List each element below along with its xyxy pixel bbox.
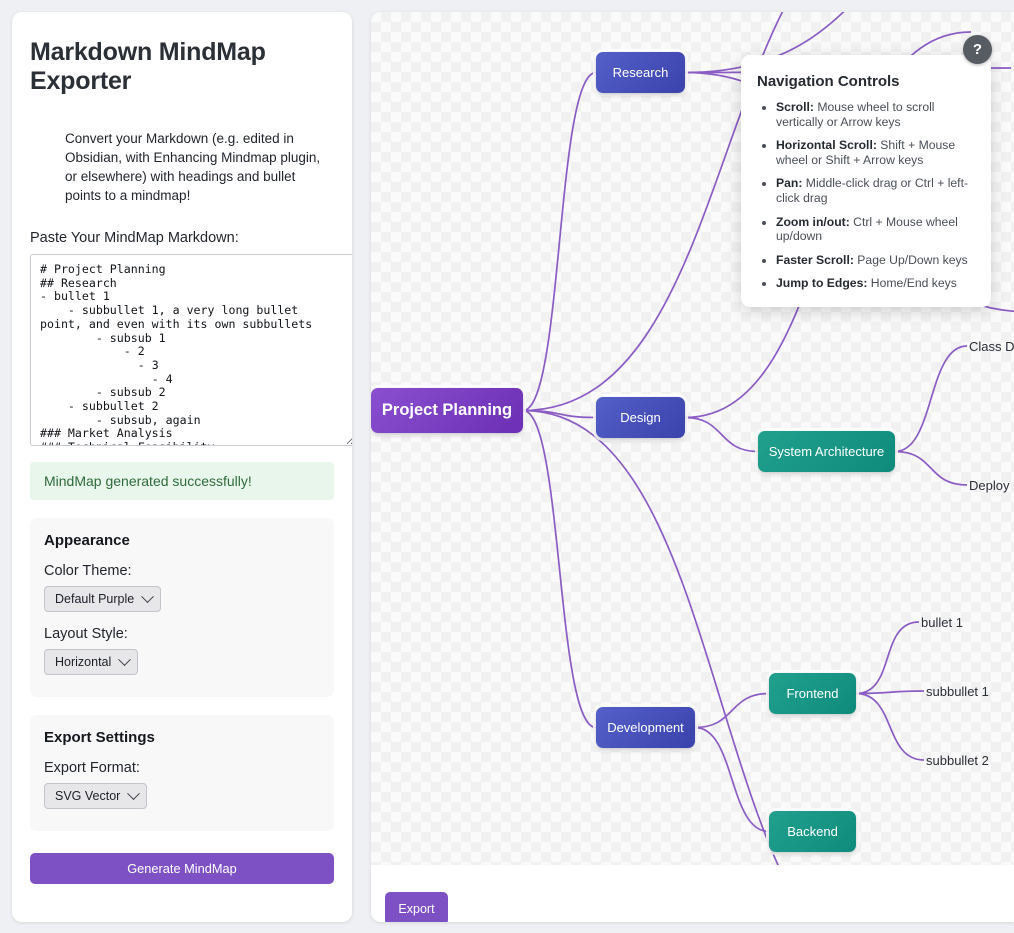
mindmap-node[interactable]: Design: [596, 397, 685, 438]
mindmap-node[interactable]: Backend: [769, 811, 856, 852]
app-root: Markdown MindMap Exporter Convert your M…: [0, 0, 1014, 933]
mindmap-card: Project PlanningResearchDesignDevelopmen…: [371, 12, 1014, 922]
mindmap-edge: [523, 411, 596, 728]
mindmap-leaf-label: subbullet 1: [926, 684, 989, 699]
tooltip-title: Navigation Controls: [757, 73, 975, 90]
color-theme-select[interactable]: Default Purple: [44, 586, 161, 612]
tooltip-item: Horizontal Scroll: Shift + Mouse wheel o…: [776, 138, 975, 167]
sidebar-panel: Markdown MindMap Exporter Convert your M…: [12, 12, 352, 922]
color-theme-value: Default Purple: [55, 592, 134, 606]
page-title: Markdown MindMap Exporter: [30, 38, 334, 96]
mindmap-edge: [856, 622, 919, 694]
mindmap-node[interactable]: Frontend: [769, 673, 856, 714]
markdown-input[interactable]: [30, 254, 352, 446]
export-settings-title: Export Settings: [44, 729, 320, 746]
tooltip-item-term: Jump to Edges:: [776, 276, 867, 290]
chevron-down-icon: [118, 653, 131, 666]
canvas-footer: Export: [371, 865, 1014, 922]
tooltip-item-desc: Middle-click drag or Ctrl + left-click d…: [776, 176, 968, 205]
export-button[interactable]: Export: [385, 892, 448, 922]
mindmap-node[interactable]: Research: [596, 52, 685, 93]
mindmap-edge: [523, 411, 919, 866]
generate-mindmap-button[interactable]: Generate MindMap: [30, 853, 334, 884]
tooltip-item-term: Zoom in/out:: [776, 215, 850, 229]
tooltip-item: Faster Scroll: Page Up/Down keys: [776, 253, 975, 268]
chevron-down-icon: [127, 787, 140, 800]
mindmap-leaf-label: Class D: [969, 339, 1014, 354]
mindmap-leaf-label: Deploy: [969, 478, 1009, 493]
layout-style-label: Layout Style:: [44, 626, 320, 642]
tooltip-item-term: Horizontal Scroll:: [776, 138, 877, 152]
mindmap-edge: [856, 694, 924, 761]
navigation-controls-tooltip: Navigation Controls Scroll: Mouse wheel …: [741, 55, 991, 307]
export-format-label: Export Format:: [44, 760, 320, 776]
tooltip-item-desc: Home/End keys: [867, 276, 956, 290]
export-format-select[interactable]: SVG Vector: [44, 783, 147, 809]
export-settings-panel: Export Settings Export Format: SVG Vecto…: [30, 715, 334, 831]
app-description: Convert your Markdown (e.g. edited in Ob…: [65, 129, 330, 205]
tooltip-item: Scroll: Mouse wheel to scroll vertically…: [776, 100, 975, 129]
mindmap-edge: [895, 346, 967, 452]
mindmap-edge: [523, 73, 596, 411]
mindmap-edge: [895, 452, 967, 486]
export-format-value: SVG Vector: [55, 789, 120, 803]
tooltip-item-term: Pan:: [776, 176, 802, 190]
mindmap-edge: [685, 418, 758, 452]
color-theme-label: Color Theme:: [44, 563, 320, 579]
mindmap-node[interactable]: System Architecture: [758, 431, 895, 472]
tooltip-item: Zoom in/out: Ctrl + Mouse wheel up/down: [776, 215, 975, 244]
tooltip-item-desc: Page Up/Down keys: [854, 253, 968, 267]
mindmap-leaf-label: bullet 1: [921, 615, 963, 630]
mindmap-leaf-label: subbullet 2: [926, 753, 989, 768]
tooltip-list: Scroll: Mouse wheel to scroll vertically…: [757, 100, 975, 291]
layout-style-select[interactable]: Horizontal: [44, 649, 138, 675]
mindmap-node[interactable]: Development: [596, 707, 695, 748]
tooltip-item: Jump to Edges: Home/End keys: [776, 276, 975, 291]
appearance-panel: Appearance Color Theme: Default Purple L…: [30, 518, 334, 697]
chevron-down-icon: [141, 590, 154, 603]
tooltip-item: Pan: Middle-click drag or Ctrl + left-cl…: [776, 176, 975, 205]
tooltip-item-term: Scroll:: [776, 100, 814, 114]
mindmap-node[interactable]: Project Planning: [371, 388, 523, 433]
layout-style-value: Horizontal: [55, 655, 111, 669]
markdown-input-label: Paste Your MindMap Markdown:: [30, 230, 334, 246]
help-icon[interactable]: ?: [963, 35, 992, 64]
status-message: MindMap generated successfully!: [30, 462, 334, 500]
tooltip-item-term: Faster Scroll:: [776, 253, 854, 267]
appearance-title: Appearance: [44, 532, 320, 549]
mindmap-edge: [695, 694, 769, 728]
